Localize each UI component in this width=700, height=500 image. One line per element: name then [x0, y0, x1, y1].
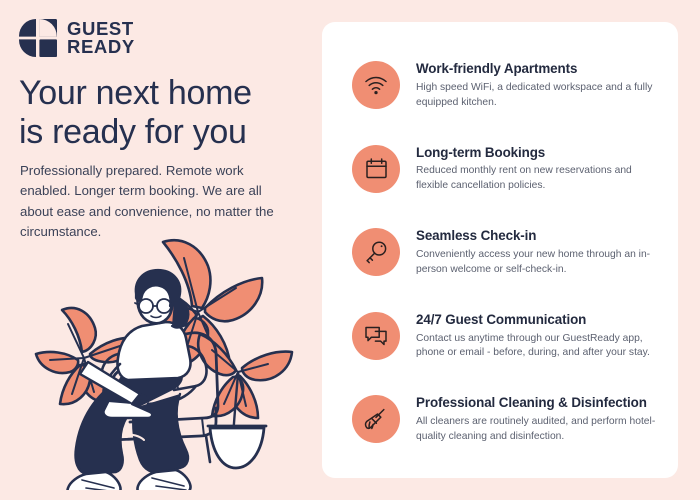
woman-working-illustration [24, 222, 320, 490]
wifi-icon [352, 61, 400, 109]
feature-title: Professional Cleaning & Disinfection [416, 395, 660, 412]
feature-title: Seamless Check-in [416, 228, 660, 245]
feature-text: Work-friendly Apartments High speed WiFi… [416, 60, 660, 111]
feature-list: Work-friendly Apartments High speed WiFi… [322, 22, 678, 478]
page-title: Your next home is ready for you [19, 74, 309, 153]
brand-logo[interactable]: GUEST READY [18, 18, 135, 58]
calendar-icon [352, 145, 400, 193]
key-icon [352, 228, 400, 276]
feature-text: Long-term Bookings Reduced monthly rent … [416, 144, 660, 195]
feature-item-work-friendly-apartments[interactable]: Work-friendly Apartments High speed WiFi… [352, 60, 660, 111]
feature-text: Seamless Check-in Conveniently access yo… [416, 227, 660, 278]
broom-icon [352, 395, 400, 443]
feature-description: High speed WiFi, a dedicated workspace a… [416, 81, 660, 111]
chat-bubbles-icon [352, 312, 400, 360]
feature-item-professional-cleaning[interactable]: Professional Cleaning & Disinfection All… [352, 394, 660, 445]
feature-description: Contact us anytime through our GuestRead… [416, 332, 660, 362]
feature-description: Reduced monthly rent on new reservations… [416, 164, 660, 194]
plant-lower-right [198, 334, 292, 438]
feature-description: Conveniently access your new home throug… [416, 248, 660, 278]
feature-item-seamless-check-in[interactable]: Seamless Check-in Conveniently access yo… [352, 227, 660, 278]
feature-title: Long-term Bookings [416, 145, 660, 162]
brand-word-ready: READY [67, 38, 135, 56]
plant-pot [208, 426, 266, 468]
feature-title: Work-friendly Apartments [416, 61, 660, 78]
feature-item-long-term-bookings[interactable]: Long-term Bookings Reduced monthly rent … [352, 144, 660, 195]
feature-text: 24/7 Guest Communication Contact us anyt… [416, 311, 660, 362]
hero-left-column: GUEST READY Your next home is ready for … [0, 0, 322, 500]
feature-item-guest-communication[interactable]: 24/7 Guest Communication Contact us anyt… [352, 311, 660, 362]
guestready-square-mark-icon [18, 18, 58, 58]
features-card: Work-friendly Apartments High speed WiFi… [322, 22, 678, 478]
feature-text: Professional Cleaning & Disinfection All… [416, 394, 660, 445]
feature-description: All cleaners are routinely audited, and … [416, 415, 660, 445]
feature-title: 24/7 Guest Communication [416, 312, 660, 329]
